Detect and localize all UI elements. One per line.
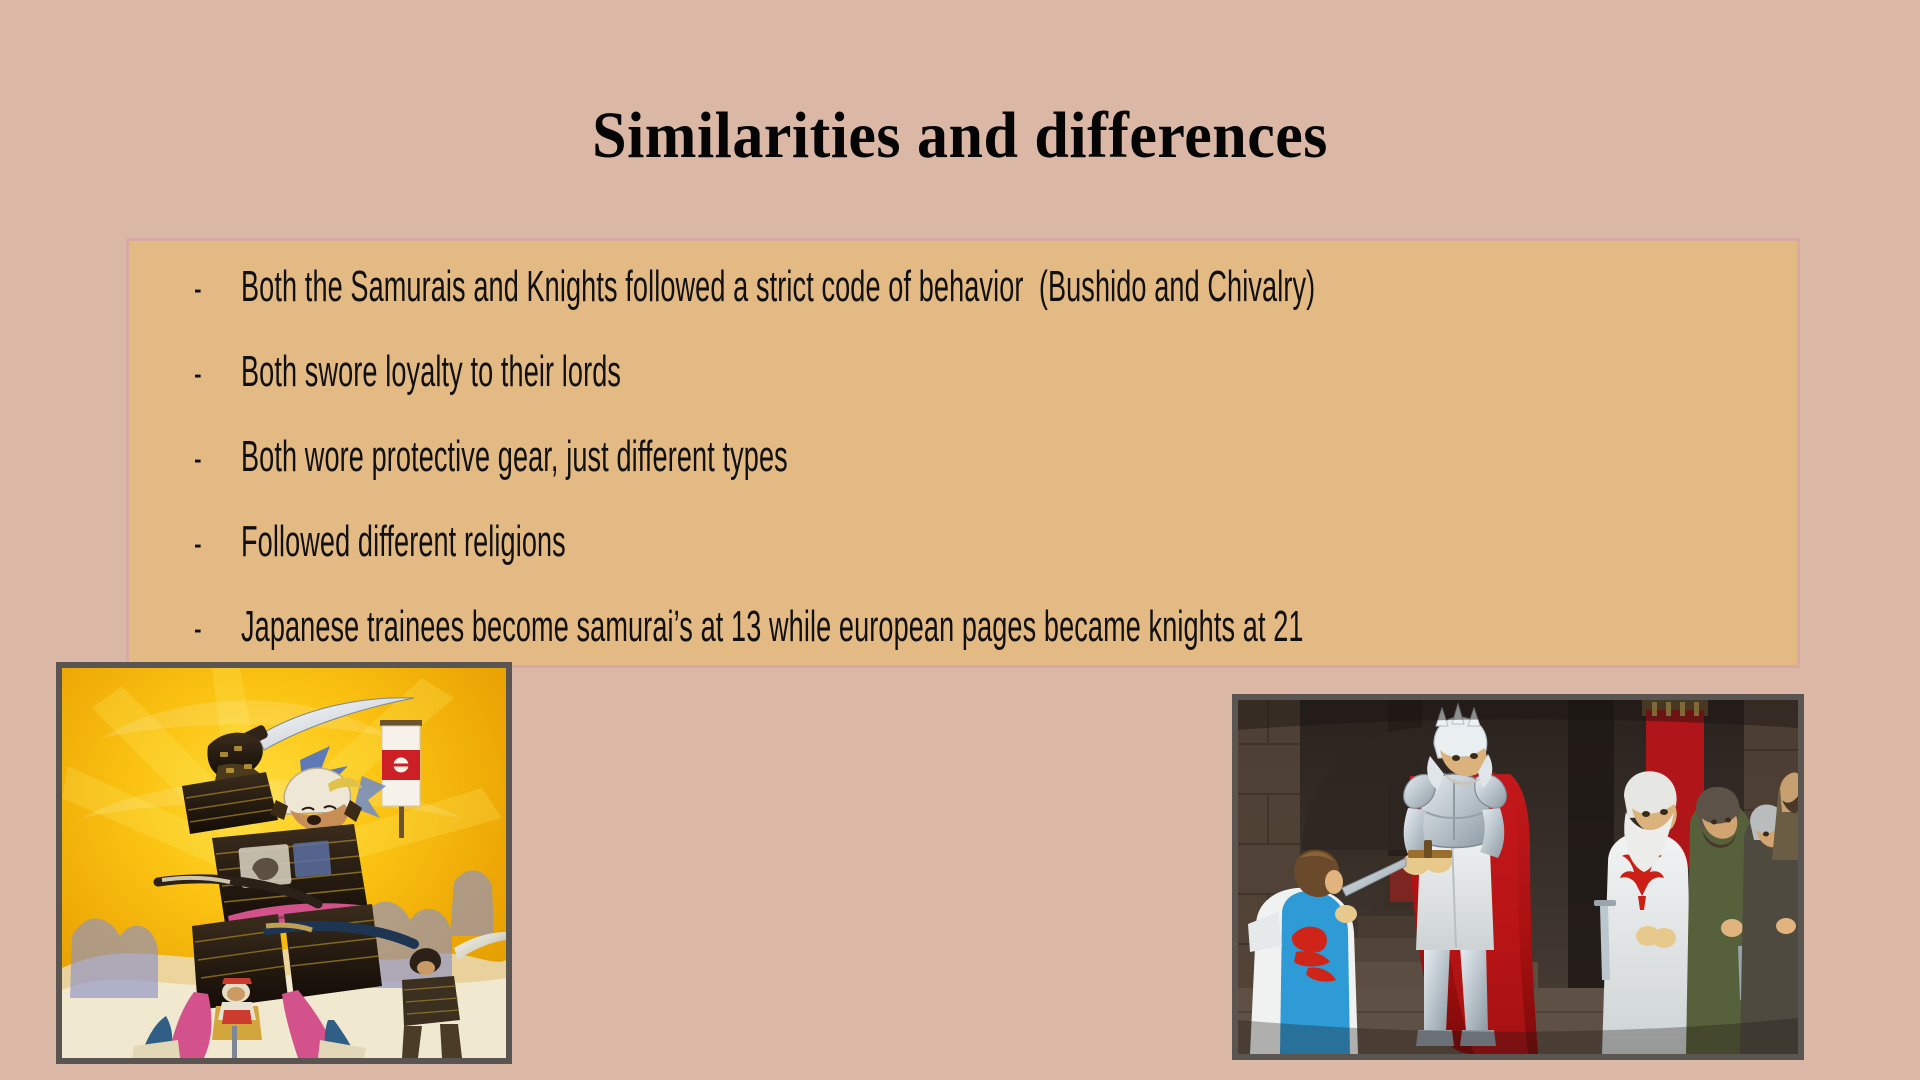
bullet-text: Both swore loyalty to their lords bbox=[241, 348, 1198, 396]
presentation-slide: Similarities and differences - Both the … bbox=[0, 0, 1920, 1080]
knight-artwork bbox=[1238, 700, 1798, 1054]
samurai-warrior-illustration bbox=[56, 662, 512, 1064]
content-panel: - Both the Samurais and Knights followed… bbox=[126, 238, 1800, 668]
knighting-scene bbox=[1238, 700, 1798, 1054]
bullet-text: Both wore protective gear, just differen… bbox=[241, 433, 1198, 481]
bullet-marker: - bbox=[194, 352, 230, 396]
list-item: - Both swore loyalty to their lords bbox=[129, 348, 1797, 433]
page-title: Similarities and differences bbox=[58, 98, 1863, 174]
bullet-text: Followed different religions bbox=[241, 518, 1198, 566]
samurai-artwork bbox=[62, 668, 506, 1058]
samurai-scene bbox=[62, 668, 506, 1058]
knighting-ceremony-illustration bbox=[1232, 694, 1804, 1060]
list-item: - Followed different religions bbox=[129, 518, 1797, 603]
bullet-text: Japanese trainees become samurai’s at 13… bbox=[241, 603, 1304, 651]
bullet-marker: - bbox=[194, 267, 230, 311]
bullet-marker: - bbox=[194, 437, 230, 481]
bullet-text: Both the Samurais and Knights followed a… bbox=[241, 263, 1315, 311]
list-item: - Both the Samurais and Knights followed… bbox=[129, 263, 1797, 348]
bullet-list: - Both the Samurais and Knights followed… bbox=[129, 241, 1797, 687]
bullet-marker: - bbox=[194, 522, 230, 566]
bullet-marker: - bbox=[194, 607, 230, 651]
list-item: - Both wore protective gear, just differ… bbox=[129, 433, 1797, 518]
